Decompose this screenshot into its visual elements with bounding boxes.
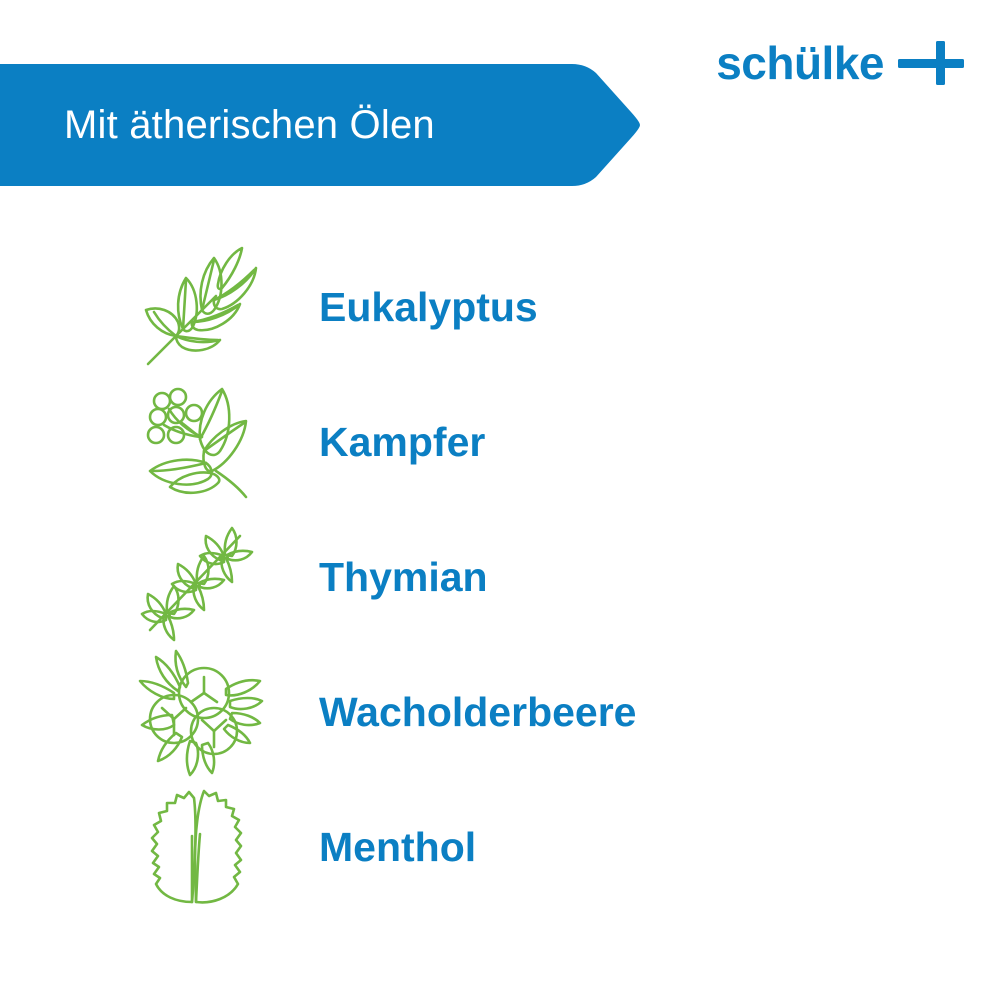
herb-label: Kampfer bbox=[319, 419, 485, 466]
herb-list: Eukalyptus bbox=[0, 240, 1000, 915]
herb-label: Wacholderbeere bbox=[319, 689, 636, 736]
camphor-berries-leaves-icon bbox=[125, 379, 275, 507]
list-item: Eukalyptus bbox=[0, 240, 1000, 375]
herb-label: Menthol bbox=[319, 824, 476, 871]
herb-label: Eukalyptus bbox=[319, 284, 538, 331]
logo-wordmark: schülke bbox=[716, 40, 884, 86]
mint-leaves-icon bbox=[125, 784, 275, 912]
dash-plus-mark-icon bbox=[898, 41, 964, 85]
herb-label: Thymian bbox=[319, 554, 488, 601]
eucalyptus-leaves-icon bbox=[125, 244, 275, 372]
juniper-berries-icon bbox=[125, 649, 275, 777]
list-item: Wacholderbeere bbox=[0, 645, 1000, 780]
list-item: Kampfer bbox=[0, 375, 1000, 510]
logo[interactable]: schülke bbox=[716, 40, 964, 86]
poster-canvas: Mit ätherischen Ölen schülke bbox=[0, 0, 1000, 1000]
list-item: Thymian bbox=[0, 510, 1000, 645]
banner-title: Mit ätherischen Ölen bbox=[64, 64, 435, 186]
banner: Mit ätherischen Ölen bbox=[0, 64, 640, 186]
list-item: Menthol bbox=[0, 780, 1000, 915]
thyme-sprig-icon bbox=[125, 514, 275, 642]
